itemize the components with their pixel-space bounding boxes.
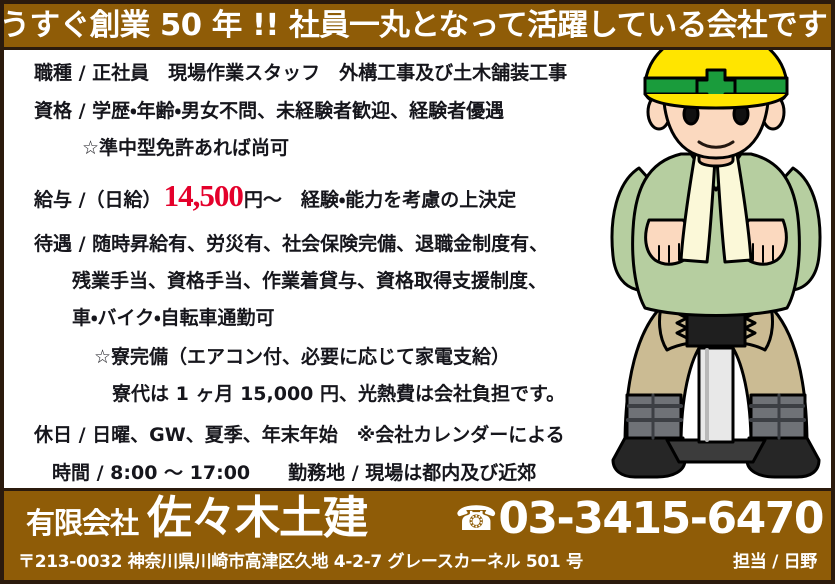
- qualification-line: 資格 / 学歴・年齢・男女不問、未経験者歓迎、経験者優遇: [34, 102, 634, 121]
- salary-tail: 円〜 経験・能力を考慮の上決定: [244, 191, 516, 210]
- banner-headline: もうすぐ創業 50 年 !! 社員一丸となって活躍している会社です !!: [4, 11, 831, 41]
- job-details-list: 職種 / 正社員 現場作業スタッフ 外構工事及び土木舗装工事 資格 / 学歴・年…: [34, 58, 634, 522]
- body-content-area: 職種 / 正社員 現場作業スタッフ 外構工事及び土木舗装工事 資格 / 学歴・年…: [4, 50, 831, 488]
- working-hours-line: 時間 / 8:00 〜 17:00 勤務地 / 現場は都内及び近郊: [34, 464, 634, 483]
- qualification-note-line: ☆準中型免許あれば尚可: [34, 139, 634, 158]
- phone-block[interactable]: ☎ 03-3415-6470: [455, 497, 823, 541]
- contact-person: 担当 / 日野: [733, 547, 817, 572]
- job-type-line: 職種 / 正社員 現場作業スタッフ 外構工事及び土木舗装工事: [34, 64, 634, 83]
- salary-line: 給与 /（日給）14,500円〜 経験・能力を考慮の上決定: [34, 180, 634, 211]
- construction-worker-illustration: [603, 50, 829, 480]
- holiday-line: 休日 / 日曜、GW、夏季、年末年始 ※会社カレンダーによる: [34, 426, 634, 445]
- company-prefix: 有限会社: [26, 500, 138, 542]
- footer-bar: 有限会社 佐々木土建 ☎ 03-3415-6470 〒213-0032 神奈川県…: [4, 488, 831, 580]
- telephone-icon: ☎: [455, 502, 497, 536]
- welfare-line-2: 残業手当、資格手当、作業着貸与、資格取得支援制度、: [34, 272, 634, 291]
- salary-label: 給与 /（日給）: [34, 191, 162, 210]
- dormitory-line-1: ☆寮完備（エアコン付、必要に応じて家電支給）: [34, 348, 634, 367]
- job-advertisement-poster: もうすぐ創業 50 年 !! 社員一丸となって活躍している会社です !! 職種 …: [0, 0, 835, 584]
- dormitory-line-2: 寮代は 1 ヶ月 15,000 円、光熱費は会社負担です。: [34, 385, 634, 404]
- welfare-line-3: 車・バイク・自転車通勤可: [34, 309, 634, 328]
- company-address: 〒213-0032 神奈川県川崎市高津区久地 4-2-7 グレースカーネル 50…: [18, 547, 583, 572]
- phone-number[interactable]: 03-3415-6470: [498, 497, 823, 541]
- salary-amount: 14,500: [164, 180, 243, 211]
- company-name: 佐々木土建: [147, 495, 367, 540]
- welfare-line-1: 待遇 / 随時昇給有、労災有、社会保険完備、退職金制度有、: [34, 235, 634, 254]
- company-name-block: 有限会社 佐々木土建: [26, 495, 367, 542]
- header-banner: もうすぐ創業 50 年 !! 社員一丸となって活躍している会社です !!: [4, 4, 831, 50]
